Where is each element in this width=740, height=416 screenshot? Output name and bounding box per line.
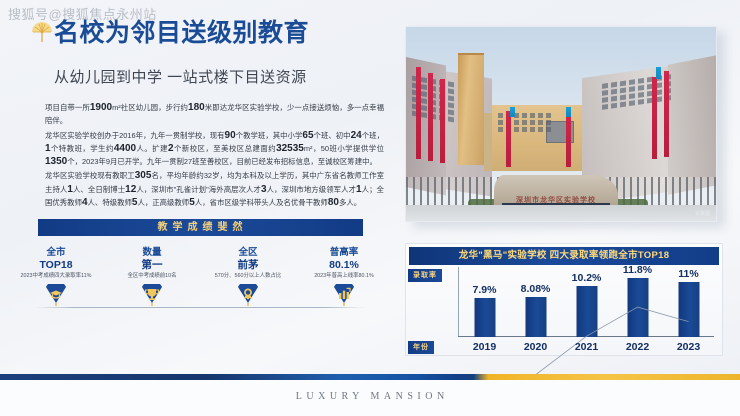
brand-name: LUXURY MANSION	[0, 391, 740, 402]
chart-x-tick: 2020	[510, 339, 561, 355]
stat-note: 570分、560分以上人数占比	[204, 272, 292, 281]
photo-red-banner	[440, 79, 445, 163]
school-campus-photo: 深圳市龙华区实验学校 实景图	[405, 26, 717, 222]
stat-label: 全区	[204, 247, 292, 259]
body-paragraph: 龙华区实验学校创办于2016年，九年一贯制学校，现有90个教学班，其中小学65个…	[45, 129, 384, 169]
stat-value: 前茅	[204, 259, 292, 272]
stat-note: 2023年普高上线率80.1%	[300, 272, 388, 281]
photo-blue-banner	[656, 67, 661, 79]
body-paragraph: 龙华区实验学校现有教职工305名，平均年龄约32岁，均为本科及以上学历，其中广东…	[45, 169, 384, 209]
stat-item: 全市 TOP18 2023中考成绩四大录取率11%	[12, 247, 100, 306]
footer-band: LUXURY MANSION	[0, 380, 740, 416]
page-title: 名校为邻目送级别教育	[54, 18, 400, 48]
stat-value: TOP18	[12, 259, 100, 272]
chart-x-tick: 2019	[459, 339, 510, 355]
photo-red-banner	[652, 77, 657, 159]
stat-label: 数量	[108, 247, 196, 259]
stat-value: 第一	[108, 259, 196, 272]
gold-fan-logo-icon	[30, 21, 54, 43]
body-copy: 项目自带一所1900m²社区幼儿园，步行约180米即达龙华区实验学校，少一点接送…	[0, 101, 400, 209]
stat-item: 全区 前茅 570分、560分以上人数占比	[204, 247, 292, 306]
admission-rate-chart: 龙华"黑马"实验学校 四大录取率领跑全市TOP18 录取率 年份 7.9%8.0…	[405, 243, 723, 356]
photo-building-right-far	[668, 55, 717, 195]
bar-chart-arrow-icon	[331, 284, 357, 306]
stat-value: 80.1%	[300, 259, 388, 272]
chart-x-tick: 2022	[612, 339, 663, 355]
stat-item: 数量 第一 全区中考成绩前10名	[108, 247, 196, 306]
photo-credit: 实景图	[695, 210, 710, 217]
chart-x-tick: 2023	[663, 339, 714, 355]
trophy-icon	[139, 284, 165, 306]
chart-y-axis-label: 录取率	[408, 269, 442, 282]
chart-body: 录取率 年份 7.9%8.08%10.2%11.8%11% 2019202020…	[406, 265, 722, 357]
photo-red-banner	[506, 111, 511, 167]
photo-blue-banner	[566, 107, 571, 117]
stat-note: 全区中考成绩前10名	[108, 272, 196, 281]
stat-item: 普高率 80.1% 2023年普高上线率80.1%	[300, 247, 388, 306]
stats-baseline-divider	[35, 307, 365, 308]
graduation-cap-icon	[43, 284, 69, 306]
title-row: 名校为邻目送级别教育	[0, 18, 400, 64]
photo-red-banner	[416, 67, 421, 159]
photo-blue-banner	[510, 107, 515, 117]
stats-banner-title: 教学成绩斐然	[38, 219, 363, 236]
stat-label: 普高率	[300, 247, 388, 259]
chart-title: 龙华"黑马"实验学校 四大录取率领跑全市TOP18	[409, 247, 719, 265]
page-subtitle: 从幼儿园到中学 一站式楼下目送资源	[0, 66, 400, 87]
photo-ground	[406, 205, 717, 222]
photo-red-banner	[664, 71, 669, 157]
medal-icon	[235, 284, 261, 306]
photo-red-banner	[566, 111, 571, 167]
left-content-column: 名校为邻目送级别教育 从幼儿园到中学 一站式楼下目送资源 项目自带一所1900m…	[0, 18, 400, 368]
chart-x-tick-labels: 20192020202120222023	[459, 339, 714, 355]
body-paragraph: 项目自带一所1900m²社区幼儿园，步行约180米即达龙华区实验学校，少一点接送…	[45, 101, 384, 128]
chart-x-tick: 2021	[561, 339, 612, 355]
chart-x-axis-label: 年份	[408, 341, 434, 354]
stat-label: 全市	[12, 247, 100, 259]
photo-red-banner	[428, 73, 433, 161]
photo-tower	[458, 55, 484, 165]
stat-note: 2023中考成绩四大录取率11%	[12, 272, 100, 281]
stats-row: 全市 TOP18 2023中考成绩四大录取率11% 数量 第一 全区中考成绩前1…	[0, 247, 400, 306]
